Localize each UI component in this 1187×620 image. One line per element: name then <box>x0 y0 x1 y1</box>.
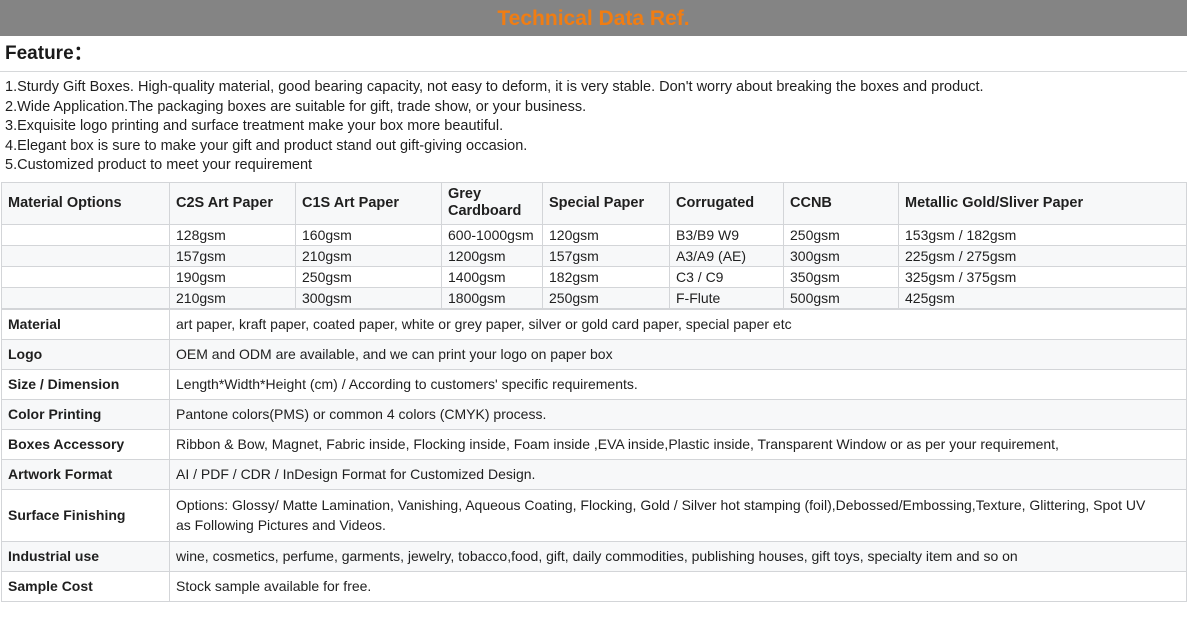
cell-grey-cardboard: 1800gsm <box>442 287 543 308</box>
cell-special-paper: 250gsm <box>543 287 670 308</box>
spec-value-material: art paper, kraft paper, coated paper, wh… <box>170 309 1187 339</box>
technical-data-sheet: Technical Data Ref. Feature： 1.Sturdy Gi… <box>0 0 1187 620</box>
column-header-ccnb: CCNB <box>784 182 899 224</box>
spec-value-industrial-use: wine, cosmetics, perfume, garments, jewe… <box>170 541 1187 571</box>
spec-label-industrial-use: Industrial use <box>2 541 170 571</box>
cell-c2s-art-paper: 210gsm <box>170 287 296 308</box>
title-banner: Technical Data Ref. <box>0 0 1187 36</box>
spec-label-size-dimension: Size / Dimension <box>2 369 170 399</box>
feature-list-item: 5.Customized product to meet your requir… <box>5 156 1182 176</box>
spec-label-logo: Logo <box>2 339 170 369</box>
cell-special-paper: 182gsm <box>543 266 670 287</box>
column-header-corrugated: Corrugated <box>670 182 784 224</box>
table-row: Boxes Accessory Ribbon & Bow, Magnet, Fa… <box>2 429 1187 459</box>
table-row: Material art paper, kraft paper, coated … <box>2 309 1187 339</box>
spec-label-color-printing: Color Printing <box>2 399 170 429</box>
cell-metallic-paper: 153gsm / 182gsm <box>899 224 1187 245</box>
cell-c2s-art-paper: 157gsm <box>170 245 296 266</box>
feature-list-item: 1.Sturdy Gift Boxes. High-quality materi… <box>5 78 1182 98</box>
cell-material-options <box>2 287 170 308</box>
cell-metallic-paper: 425gsm <box>899 287 1187 308</box>
feature-list-item: 3.Exquisite logo printing and surface tr… <box>5 117 1182 137</box>
column-header-c1s-art-paper: C1S Art Paper <box>296 182 442 224</box>
cell-grey-cardboard: 1200gsm <box>442 245 543 266</box>
cell-c1s-art-paper: 250gsm <box>296 266 442 287</box>
spec-value-boxes-accessory: Ribbon & Bow, Magnet, Fabric inside, Flo… <box>170 429 1187 459</box>
cell-ccnb: 350gsm <box>784 266 899 287</box>
feature-heading-row: Feature： <box>0 36 1187 72</box>
spec-label-surface-finishing: Surface Finishing <box>2 489 170 541</box>
spec-value-artwork-format: AI / PDF / CDR / InDesign Format for Cus… <box>170 459 1187 489</box>
spec-label-sample-cost: Sample Cost <box>2 571 170 601</box>
spec-value-line: Options: Glossy/ Matte Lamination, Vanis… <box>176 495 1180 515</box>
table-row: 190gsm 250gsm 1400gsm 182gsm C3 / C9 350… <box>2 266 1187 287</box>
cell-c1s-art-paper: 300gsm <box>296 287 442 308</box>
specification-table: Material art paper, kraft paper, coated … <box>1 309 1187 602</box>
cell-metallic-paper: 225gsm / 275gsm <box>899 245 1187 266</box>
cell-metallic-paper: 325gsm / 375gsm <box>899 266 1187 287</box>
table-row: Logo OEM and ODM are available, and we c… <box>2 339 1187 369</box>
table-row: 210gsm 300gsm 1800gsm 250gsm F-Flute 500… <box>2 287 1187 308</box>
spec-label-boxes-accessory: Boxes Accessory <box>2 429 170 459</box>
cell-grey-cardboard: 1400gsm <box>442 266 543 287</box>
cell-c1s-art-paper: 210gsm <box>296 245 442 266</box>
material-table-header-row: Material Options C2S Art Paper C1S Art P… <box>2 182 1187 224</box>
feature-list: 1.Sturdy Gift Boxes. High-quality materi… <box>0 72 1187 182</box>
table-row: Size / Dimension Length*Width*Height (cm… <box>2 369 1187 399</box>
column-header-grey-cardboard: Grey Cardboard <box>442 182 543 224</box>
cell-ccnb: 250gsm <box>784 224 899 245</box>
table-row: Artwork Format AI / PDF / CDR / InDesign… <box>2 459 1187 489</box>
table-row: Surface Finishing Options: Glossy/ Matte… <box>2 489 1187 541</box>
spec-label-artwork-format: Artwork Format <box>2 459 170 489</box>
table-row: Color Printing Pantone colors(PMS) or co… <box>2 399 1187 429</box>
feature-list-item: 2.Wide Application.The packaging boxes a… <box>5 98 1182 118</box>
column-header-special-paper: Special Paper <box>543 182 670 224</box>
page-title: Technical Data Ref. <box>497 8 689 29</box>
material-options-table: Material Options C2S Art Paper C1S Art P… <box>1 182 1187 309</box>
column-header-c2s-art-paper: C2S Art Paper <box>170 182 296 224</box>
column-header-material-options: Material Options <box>2 182 170 224</box>
cell-special-paper: 157gsm <box>543 245 670 266</box>
cell-grey-cardboard: 600-1000gsm <box>442 224 543 245</box>
cell-c2s-art-paper: 190gsm <box>170 266 296 287</box>
table-row: 157gsm 210gsm 1200gsm 157gsm A3/A9 (AE) … <box>2 245 1187 266</box>
spec-value-surface-finishing: Options: Glossy/ Matte Lamination, Vanis… <box>170 489 1187 541</box>
cell-material-options <box>2 245 170 266</box>
cell-c1s-art-paper: 160gsm <box>296 224 442 245</box>
cell-ccnb: 300gsm <box>784 245 899 266</box>
spec-value-line: as Following Pictures and Videos. <box>176 515 1180 535</box>
table-row: Industrial use wine, cosmetics, perfume,… <box>2 541 1187 571</box>
feature-heading-label: Feature： <box>5 44 93 63</box>
cell-corrugated: B3/B9 W9 <box>670 224 784 245</box>
cell-special-paper: 120gsm <box>543 224 670 245</box>
spec-value-sample-cost: Stock sample available for free. <box>170 571 1187 601</box>
cell-corrugated: F-Flute <box>670 287 784 308</box>
column-header-metallic-gold-sliver-paper: Metallic Gold/Sliver Paper <box>899 182 1187 224</box>
table-row: Sample Cost Stock sample available for f… <box>2 571 1187 601</box>
spec-value-color-printing: Pantone colors(PMS) or common 4 colors (… <box>170 399 1187 429</box>
cell-material-options <box>2 224 170 245</box>
cell-c2s-art-paper: 128gsm <box>170 224 296 245</box>
cell-material-options <box>2 266 170 287</box>
spec-label-material: Material <box>2 309 170 339</box>
cell-corrugated: A3/A9 (AE) <box>670 245 784 266</box>
cell-ccnb: 500gsm <box>784 287 899 308</box>
spec-value-logo: OEM and ODM are available, and we can pr… <box>170 339 1187 369</box>
table-row: 128gsm 160gsm 600-1000gsm 120gsm B3/B9 W… <box>2 224 1187 245</box>
cell-corrugated: C3 / C9 <box>670 266 784 287</box>
spec-value-size-dimension: Length*Width*Height (cm) / According to … <box>170 369 1187 399</box>
feature-list-item: 4.Elegant box is sure to make your gift … <box>5 137 1182 157</box>
